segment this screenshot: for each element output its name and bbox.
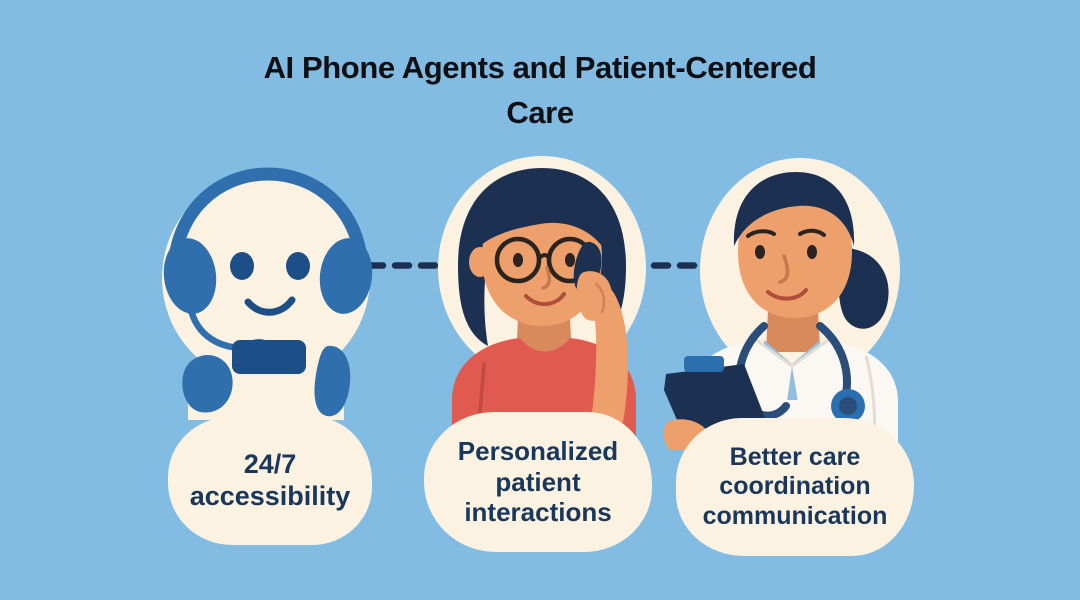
illustration-doctor-with-clipboard — [660, 150, 960, 450]
illustration-ai-phone-agent-robot — [128, 150, 428, 450]
caption-text: Better care coordination communication — [684, 443, 906, 532]
infographic-canvas: AI Phone Agents and Patient-Centered Car… — [0, 0, 1080, 600]
illustration-patient-on-phone — [400, 150, 700, 450]
caption-bubble-accessibility: 24/7 accessibility — [168, 417, 372, 545]
page-title: AI Phone Agents and Patient-Centered Car… — [240, 46, 840, 136]
caption-bubble-personalized-interactions: Personalized patient interactions — [424, 412, 652, 552]
caption-bubble-care-coordination: Better care coordination communication — [676, 418, 914, 556]
caption-text: Personalized patient interactions — [434, 436, 642, 528]
caption-text: 24/7 accessibility — [190, 449, 351, 513]
